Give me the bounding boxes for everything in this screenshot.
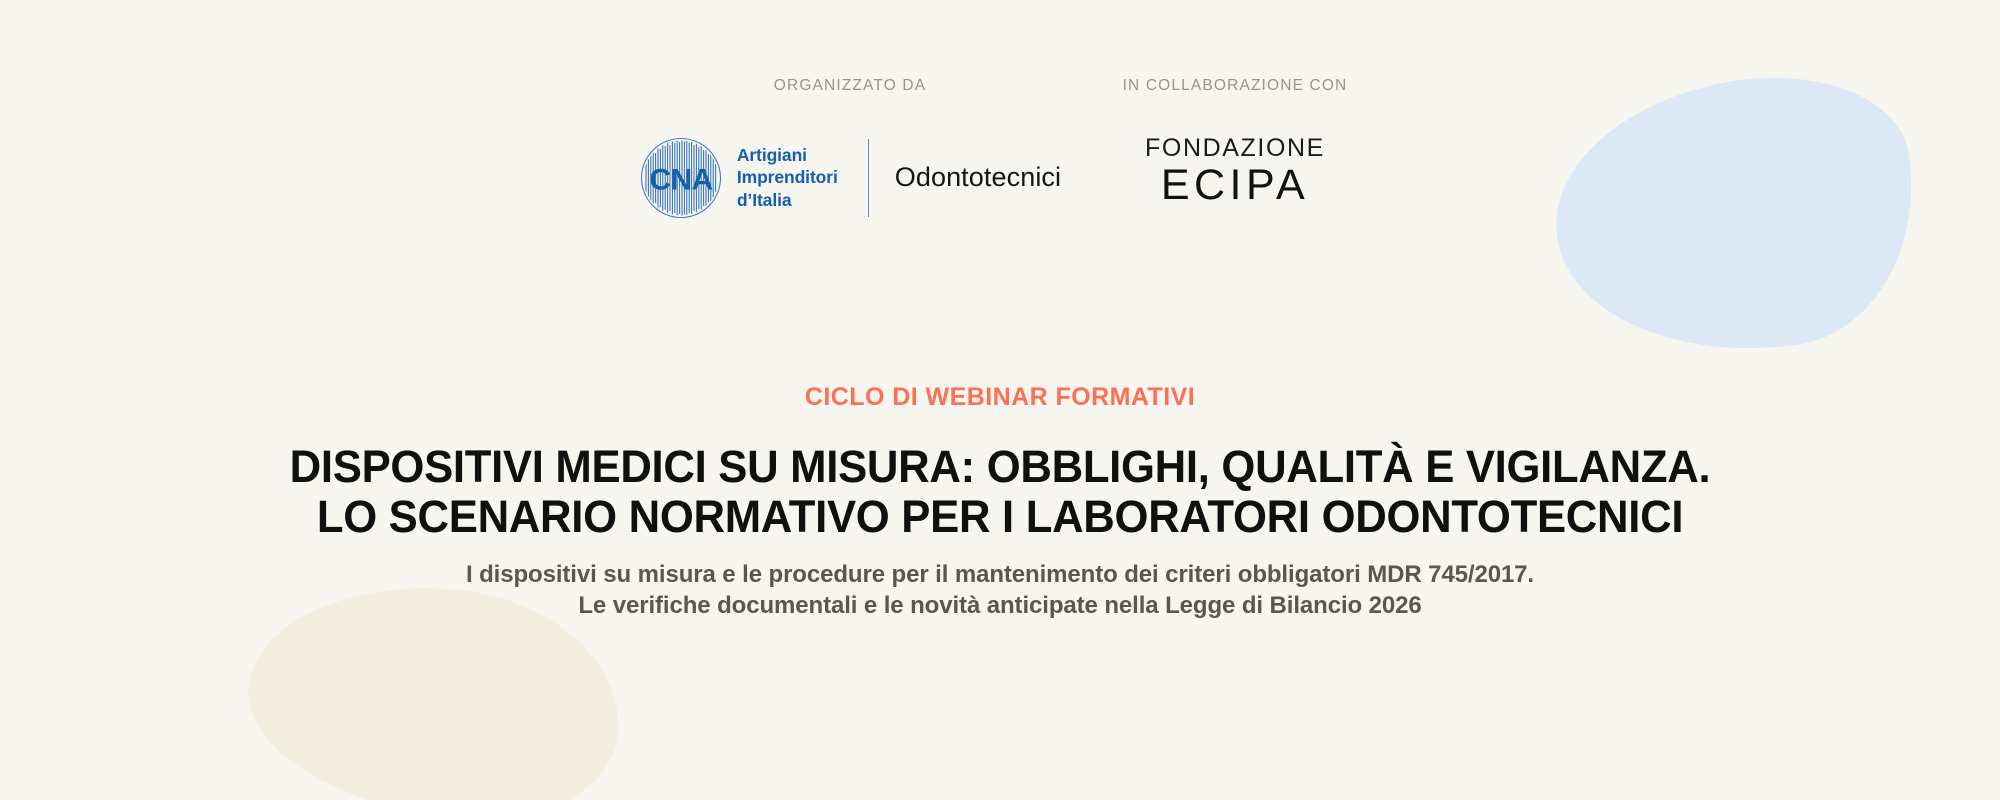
hero-text-block: CICLO DI WEBINAR FORMATIVI DISPOSITIVI M… <box>0 385 2000 621</box>
cna-tagline-line-1: Artigiani <box>737 144 838 166</box>
promo-banner: ORGANIZZATO DA <box>0 0 2000 800</box>
cna-sector-label: Odontotecnici <box>895 162 1061 193</box>
hero-subtitle-line-1: I dispositivi su misura e le procedure p… <box>0 559 2000 590</box>
cna-circular-emblem-icon: CNA <box>639 136 723 220</box>
hero-title-line-2: LO SCENARIO NORMATIVO PER I LABORATORI O… <box>30 492 1970 542</box>
ecipa-logo: FONDAZIONE ECIPA <box>1145 136 1325 207</box>
logo-vertical-divider <box>868 139 869 217</box>
ecipa-logo-main-word: ECIPA <box>1161 164 1309 207</box>
cna-tagline-line-2: Imprenditori <box>737 166 838 188</box>
cna-logo: CNA Artigiani Imprenditori d’Italia Odon… <box>639 136 1061 220</box>
hero-title: DISPOSITIVI MEDICI SU MISURA: OBBLIGHI, … <box>30 442 1970 543</box>
hero-title-line-1: DISPOSITIVI MEDICI SU MISURA: OBBLIGHI, … <box>30 442 1970 492</box>
cna-tagline-line-3: d’Italia <box>737 189 838 211</box>
logo-band: ORGANIZZATO DA <box>0 78 2000 220</box>
partner-block: IN COLLABORAZIONE CON FONDAZIONE ECIPA <box>1085 78 1385 207</box>
svg-text:CNA: CNA <box>649 163 712 196</box>
hero-kicker: CICLO DI WEBINAR FORMATIVI <box>0 385 2000 410</box>
hero-subtitle-line-2: Le verifiche documentali e le novità ant… <box>0 590 2000 621</box>
organizer-block: ORGANIZZATO DA <box>615 78 1085 220</box>
hero-subtitle: I dispositivi su misura e le procedure p… <box>0 559 2000 621</box>
ecipa-logo-top-word: FONDAZIONE <box>1145 136 1325 161</box>
partner-eyebrow-label: IN COLLABORAZIONE CON <box>1123 78 1348 94</box>
organizer-eyebrow-label: ORGANIZZATO DA <box>774 78 926 94</box>
cna-tagline: Artigiani Imprenditori d’Italia <box>737 144 838 211</box>
